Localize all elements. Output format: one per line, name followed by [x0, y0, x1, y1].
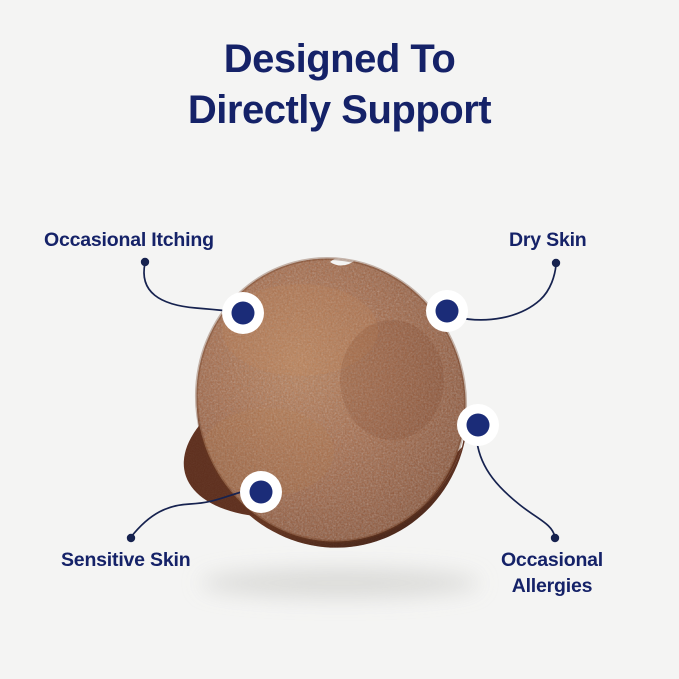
callout-label-sensitive-skin: Sensitive Skin: [61, 548, 190, 574]
leader-dry-skin: [456, 259, 560, 320]
marker-dry-skin[interactable]: [426, 290, 468, 332]
callout-label-occasional-allergies: Occasional Allergies: [472, 548, 632, 599]
marker-sensitive-skin[interactable]: [240, 471, 282, 513]
product-shadow: [200, 569, 480, 597]
marker-occasional-itching[interactable]: [222, 292, 264, 334]
callout-label-occasional-itching: Occasional Itching: [44, 228, 214, 254]
callout-label-dry-skin: Dry Skin: [509, 228, 587, 254]
leader-occasional-allergies: [477, 442, 559, 542]
infographic-canvas: Designed To Directly Support: [0, 0, 679, 679]
marker-occasional-allergies[interactable]: [457, 404, 499, 446]
tablet-top-face: [165, 228, 497, 572]
